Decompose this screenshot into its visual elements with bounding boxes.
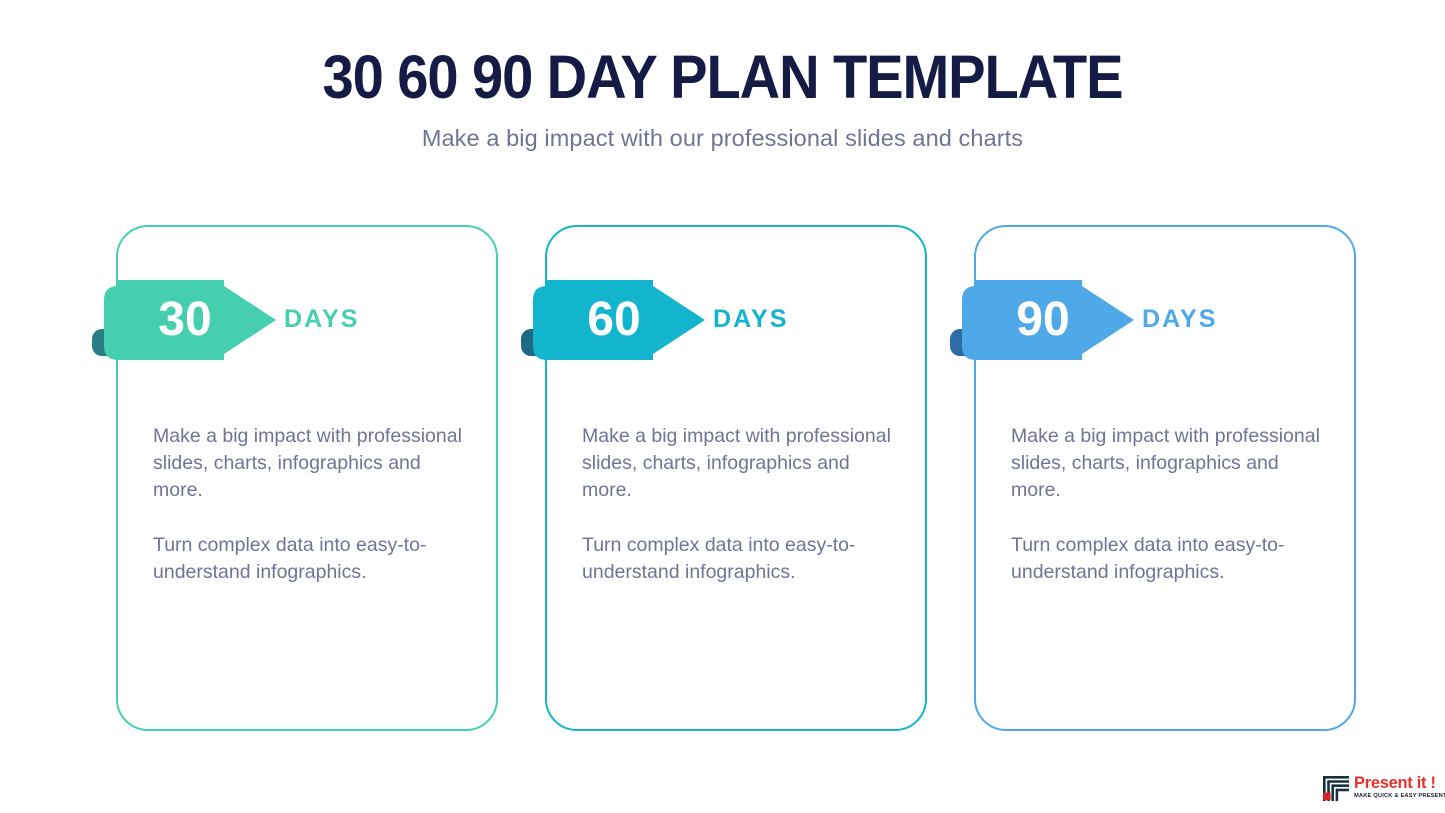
card-paragraph-2: Turn complex data into easy-to-understan…: [582, 532, 902, 586]
card-body-30: Make a big impact with professional slid…: [153, 423, 473, 586]
brand-logo[interactable]: Present it ! MAKE QUICK & EASY PRESENTAT…: [1322, 774, 1442, 806]
card-body-90: Make a big impact with professional slid…: [1011, 423, 1331, 586]
day-banner-30: 30 DAYS: [92, 280, 492, 370]
plan-cards-row: 30 DAYS Make a big impact with professio…: [116, 225, 1353, 731]
logo-wordmark: Present it !: [1354, 774, 1445, 792]
presentit-bars-icon: [1322, 775, 1350, 801]
arrow-body-shape: [533, 280, 705, 360]
card-paragraph-2: Turn complex data into easy-to-understan…: [153, 532, 473, 586]
day-unit-label-60: DAYS: [713, 302, 789, 336]
arrow-body-shape: [104, 280, 276, 360]
plan-card-90-days[interactable]: 90 DAYS Make a big impact with professio…: [974, 225, 1356, 731]
card-paragraph-1: Make a big impact with professional slid…: [153, 423, 473, 505]
day-banner-60: 60 DAYS: [521, 280, 921, 370]
slide-header: 30 60 90 DAY PLAN TEMPLATE Make a big im…: [0, 0, 1445, 152]
plan-card-60-days[interactable]: 60 DAYS Make a big impact with professio…: [545, 225, 927, 731]
logo-tagline: MAKE QUICK & EASY PRESENTATIONS: [1354, 792, 1445, 801]
card-paragraph-2: Turn complex data into easy-to-understan…: [1011, 532, 1331, 586]
card-paragraph-1: Make a big impact with professional slid…: [1011, 423, 1331, 505]
card-paragraph-1: Make a big impact with professional slid…: [582, 423, 902, 505]
page-title: 30 60 90 DAY PLAN TEMPLATE: [58, 0, 1387, 110]
card-body-60: Make a big impact with professional slid…: [582, 423, 902, 586]
day-banner-90: 90 DAYS: [950, 280, 1350, 370]
arrow-body-shape: [962, 280, 1134, 360]
plan-card-30-days[interactable]: 30 DAYS Make a big impact with professio…: [116, 225, 498, 731]
logo-text-block: Present it ! MAKE QUICK & EASY PRESENTAT…: [1354, 774, 1445, 801]
day-unit-label-90: DAYS: [1142, 302, 1218, 336]
page-subtitle: Make a big impact with our professional …: [0, 110, 1445, 152]
day-unit-label-30: DAYS: [284, 302, 360, 336]
